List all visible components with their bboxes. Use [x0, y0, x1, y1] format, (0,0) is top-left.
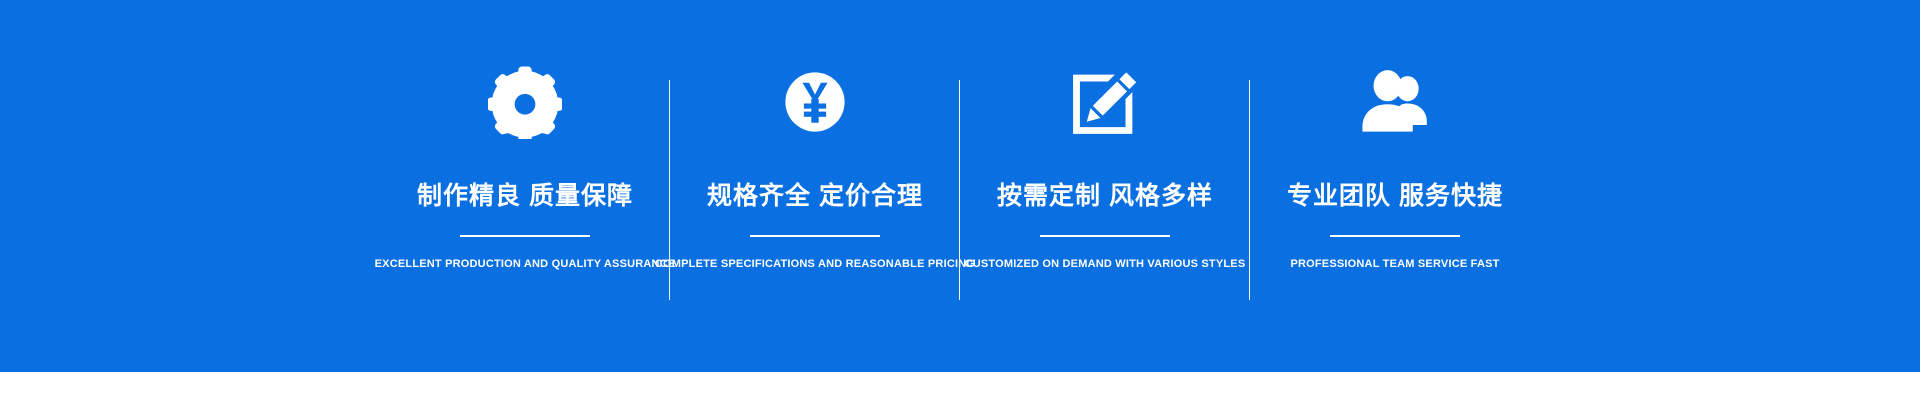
feature-list: 制作精良 质量保障 EXCELLENT PRODUCTION AND QUALI… — [380, 0, 1540, 372]
feature-item-customization[interactable]: 按需定制 风格多样 CUSTOMIZED ON DEMAND WITH VARI… — [960, 0, 1250, 372]
title-underline — [460, 235, 590, 237]
feature-subtitle: CUSTOMIZED ON DEMAND WITH VARIOUS STYLES — [965, 259, 1246, 270]
feature-subtitle: COMPLETE SPECIFICATIONS AND REASONABLE P… — [655, 259, 975, 270]
feature-title: 制作精良 质量保障 — [417, 184, 633, 209]
feature-item-pricing[interactable]: 规格齐全 定价合理 COMPLETE SPECIFICATIONS AND RE… — [670, 0, 960, 372]
gear-icon — [488, 62, 562, 142]
title-underline — [1330, 235, 1460, 237]
feature-item-team[interactable]: 专业团队 服务快捷 PROFESSIONAL TEAM SERVICE FAST — [1250, 0, 1540, 372]
feature-subtitle: PROFESSIONAL TEAM SERVICE FAST — [1290, 259, 1499, 270]
feature-title: 规格齐全 定价合理 — [707, 184, 923, 209]
users-group-icon — [1353, 62, 1437, 142]
feature-item-quality[interactable]: 制作精良 质量保障 EXCELLENT PRODUCTION AND QUALI… — [380, 0, 670, 372]
feature-subtitle: EXCELLENT PRODUCTION AND QUALITY ASSURAN… — [375, 259, 676, 270]
feature-title: 按需定制 风格多样 — [997, 184, 1213, 209]
title-underline — [750, 235, 880, 237]
banner-footer-spacer — [0, 372, 1920, 401]
feature-title: 专业团队 服务快捷 — [1287, 184, 1503, 209]
title-underline — [1040, 235, 1170, 237]
yen-coin-icon — [778, 62, 852, 142]
edit-pencil-square-icon — [1067, 62, 1143, 142]
feature-banner: 制作精良 质量保障 EXCELLENT PRODUCTION AND QUALI… — [0, 0, 1920, 372]
